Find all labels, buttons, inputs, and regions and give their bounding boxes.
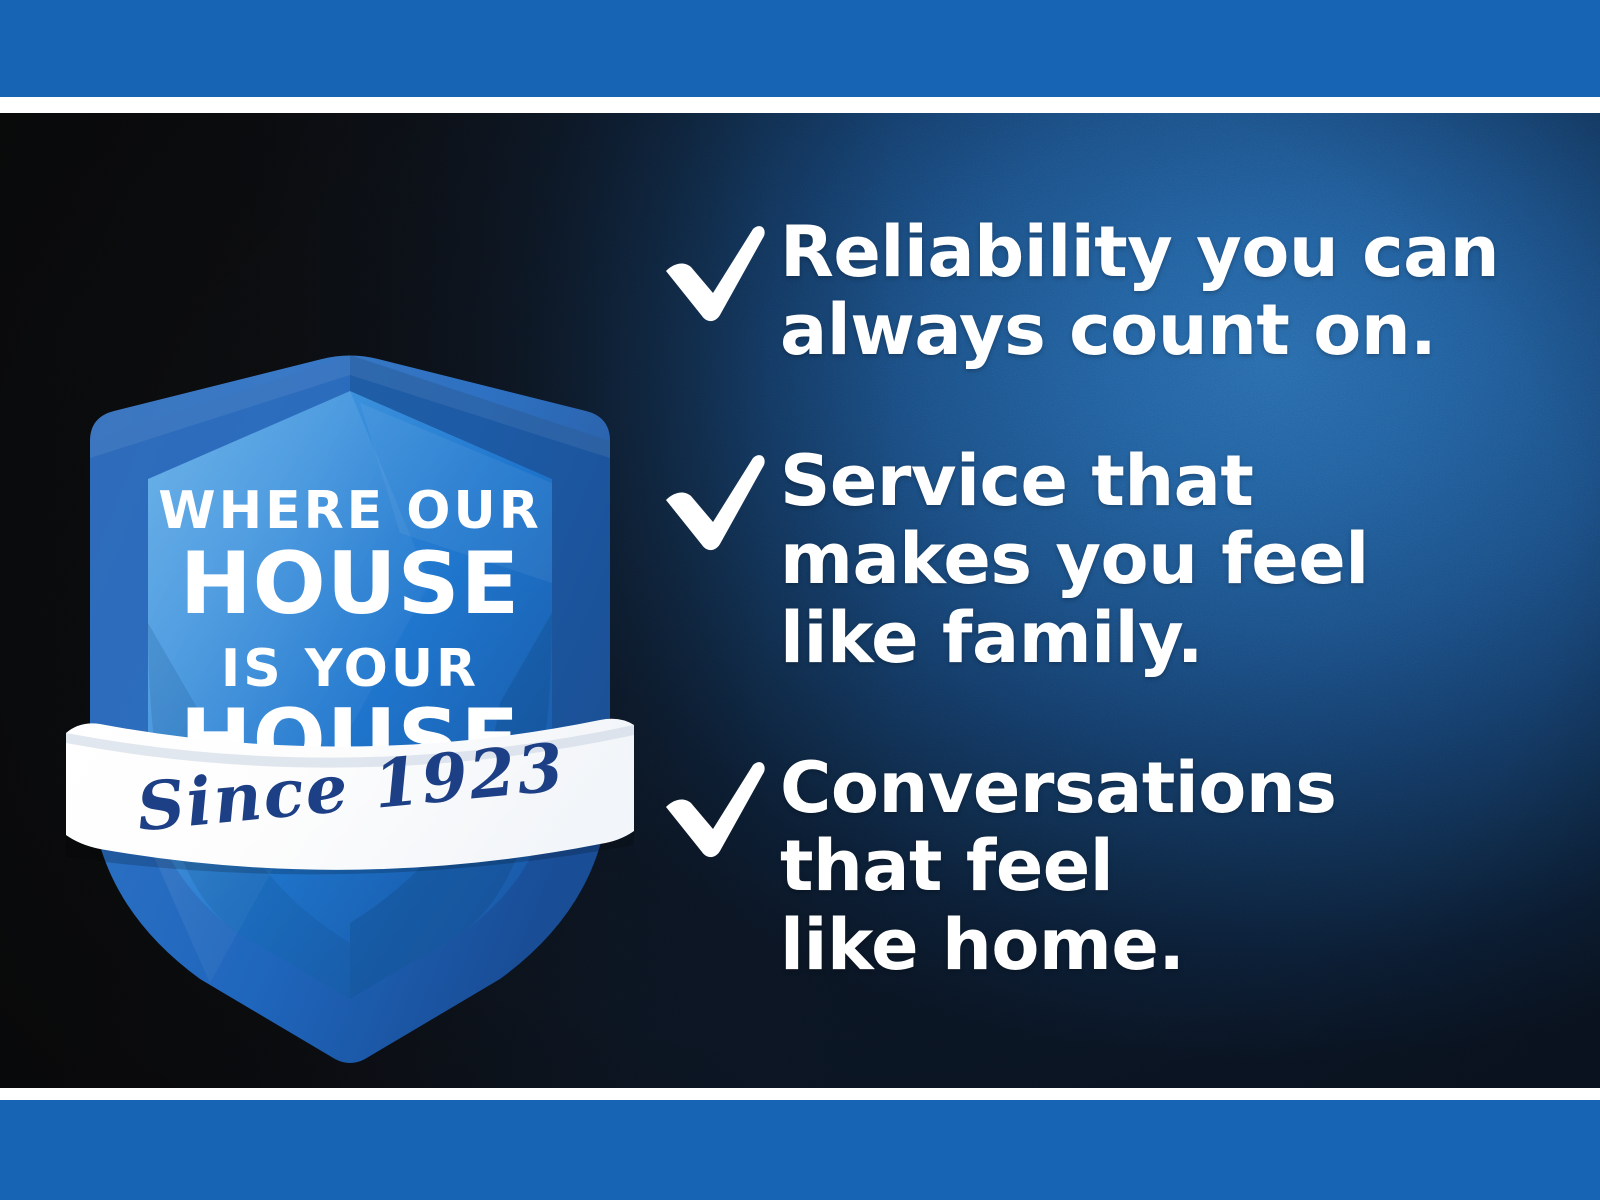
list-item: Conversations that feel like home.: [660, 749, 1520, 984]
list-item-label: Service that makes you feel like family.: [780, 442, 1520, 677]
badge-line-3: IS YOUR: [221, 639, 479, 699]
promo-poster: WHERE OUR HOUSE IS YOUR HOUSE Since 1923: [0, 0, 1600, 1200]
bottom-brand-bar: [0, 1100, 1600, 1200]
badge-line-2: HOUSE: [180, 534, 521, 634]
check-icon: [660, 749, 780, 859]
list-item: Reliability you can always count on.: [660, 213, 1520, 370]
since-1923-badge: WHERE OUR HOUSE IS YOUR HOUSE Since 1923: [60, 283, 640, 1073]
benefits-list: Reliability you can always count on. Ser…: [660, 213, 1520, 984]
check-icon: [660, 442, 780, 552]
top-brand-bar: [0, 0, 1600, 97]
check-icon: [660, 213, 780, 323]
main-stage: WHERE OUR HOUSE IS YOUR HOUSE Since 1923: [0, 113, 1600, 1088]
list-item-label: Conversations that feel like home.: [780, 749, 1520, 984]
badge-line-1: WHERE OUR: [158, 481, 542, 541]
list-item: Service that makes you feel like family.: [660, 442, 1520, 677]
list-item-label: Reliability you can always count on.: [780, 213, 1520, 370]
